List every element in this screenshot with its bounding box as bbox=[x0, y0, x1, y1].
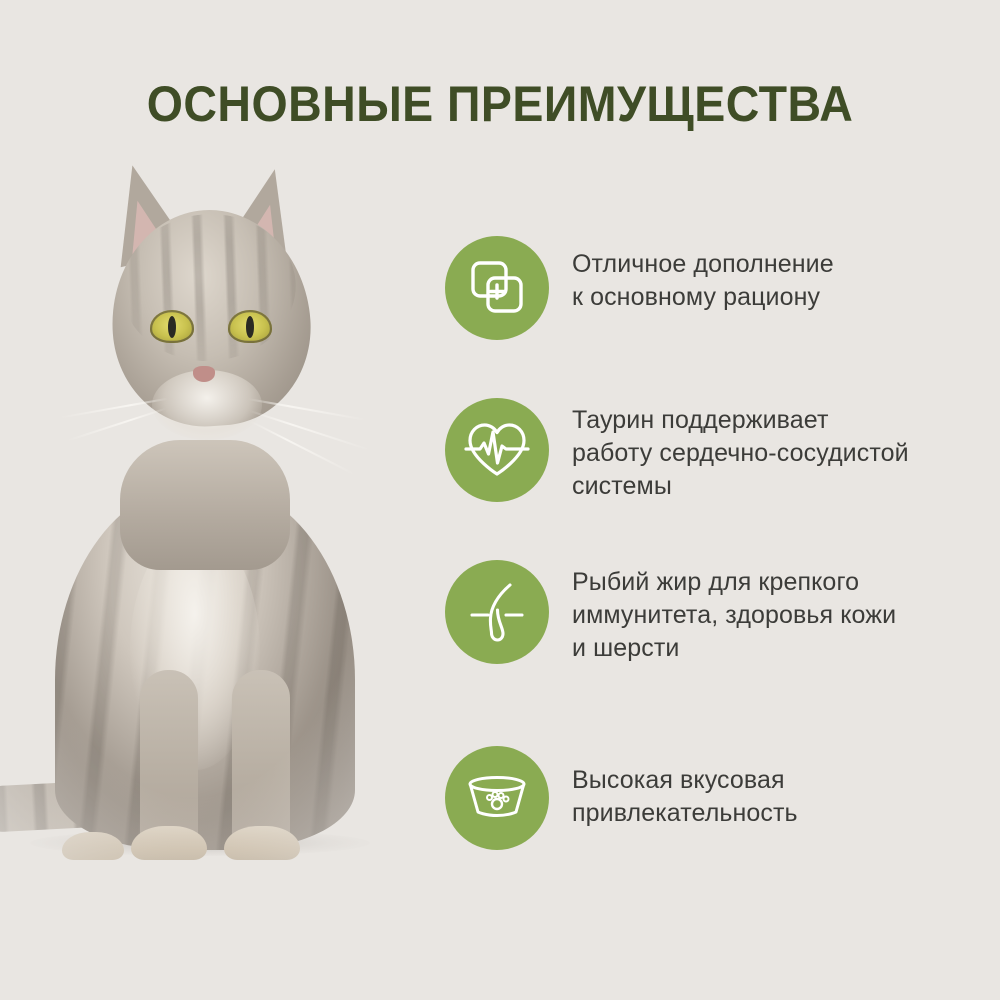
benefit-label: Таурин поддерживает работу сердечно-сосу… bbox=[572, 398, 909, 503]
benefit-item: Отличное дополнение к основному рациону bbox=[445, 236, 985, 340]
cat-paw-far bbox=[62, 832, 124, 860]
benefit-item: Высокая вкусовая привлекательность bbox=[445, 746, 985, 850]
cat-paw-right bbox=[224, 826, 300, 860]
benefit-item: Таурин поддерживает работу сердечно-сосу… bbox=[445, 398, 985, 503]
pet-bowl-paw-icon bbox=[445, 746, 549, 850]
benefit-label: Высокая вкусовая привлекательность bbox=[572, 746, 798, 830]
cat-paw-left bbox=[131, 826, 207, 860]
benefit-item: Рыбий жир для крепкого иммунитета, здоро… bbox=[445, 560, 985, 665]
cat-eye-right bbox=[228, 310, 272, 343]
benefits-poster: ОСНОВНЫЕ ПРЕИМУЩЕСТВА bbox=[0, 0, 1000, 1000]
stacked-squares-plus-icon bbox=[445, 236, 549, 340]
cat-photo bbox=[0, 170, 430, 890]
page-title: ОСНОВНЫЕ ПРЕИМУЩЕСТВА bbox=[35, 76, 965, 132]
cat-neck bbox=[120, 440, 290, 570]
cat-pupil-right bbox=[246, 316, 254, 338]
benefit-label: Отличное дополнение к основному рациону bbox=[572, 236, 834, 314]
cat-eye-left bbox=[150, 310, 194, 343]
hair-follicle-icon bbox=[445, 560, 549, 664]
cat-pupil-left bbox=[168, 316, 176, 338]
heart-pulse-icon bbox=[445, 398, 549, 502]
benefit-label: Рыбий жир для крепкого иммунитета, здоро… bbox=[572, 560, 896, 665]
cat-illustration bbox=[0, 170, 430, 890]
